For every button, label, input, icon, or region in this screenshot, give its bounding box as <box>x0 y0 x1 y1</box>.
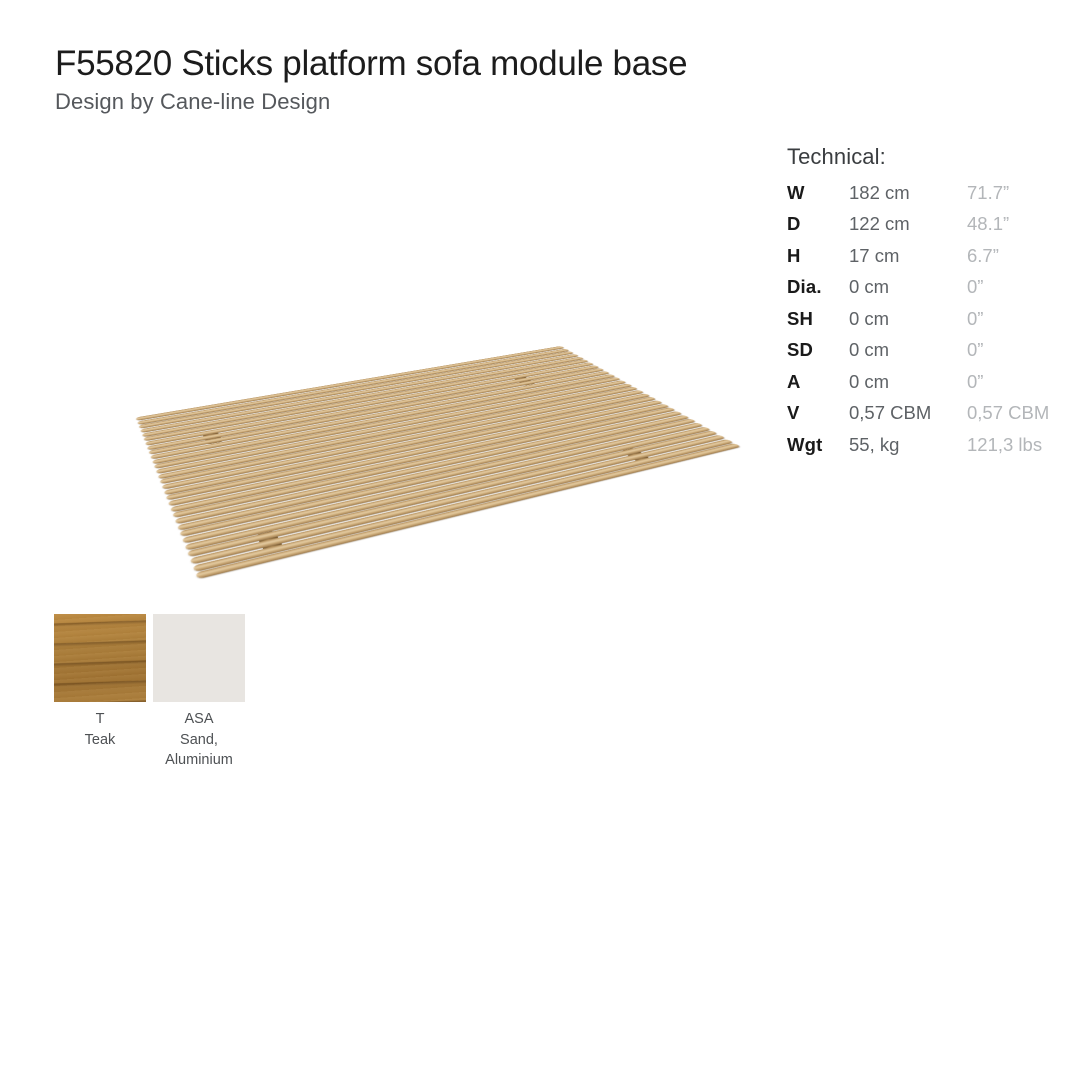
spec-label: D <box>787 209 849 241</box>
spec-imperial: 0” <box>967 366 1052 398</box>
swatch-chip[interactable] <box>54 614 146 702</box>
spec-metric: 0 cm <box>849 335 967 367</box>
spec-metric: 182 cm <box>849 177 967 209</box>
spec-metric: 122 cm <box>849 209 967 241</box>
page-title: F55820 Sticks platform sofa module base <box>55 44 955 83</box>
swatch-code: ASA <box>184 709 213 730</box>
spec-imperial: 0” <box>967 303 1052 335</box>
spec-label: A <box>787 366 849 398</box>
spec-imperial: 6.7” <box>967 240 1052 272</box>
table-row: A0 cm0” <box>787 366 1052 398</box>
table-row: D122 cm48.1” <box>787 209 1052 241</box>
platform-perspective-stage <box>130 250 730 500</box>
spec-imperial: 0” <box>967 272 1052 304</box>
swatch-name: Teak <box>85 730 116 751</box>
spec-metric: 55, kg <box>849 429 967 461</box>
swatch-item[interactable]: ASASand,Aluminium <box>153 614 245 771</box>
table-row: V0,57 CBM0,57 CBM <box>787 398 1052 430</box>
spec-imperial: 71.7” <box>967 177 1052 209</box>
spec-metric: 17 cm <box>849 240 967 272</box>
colour-swatch-list: TTeakASASand,Aluminium <box>54 614 245 771</box>
spec-imperial: 121,3 lbs <box>967 429 1052 461</box>
spec-label: V <box>787 398 849 430</box>
specifications-table: W182 cm71.7”D122 cm48.1”H17 cm6.7”Dia.0 … <box>787 177 1052 461</box>
spec-label: H <box>787 240 849 272</box>
technical-specifications: Technical: W182 cm71.7”D122 cm48.1”H17 c… <box>787 144 1067 461</box>
spec-metric: 0 cm <box>849 272 967 304</box>
table-row: H17 cm6.7” <box>787 240 1052 272</box>
product-header: F55820 Sticks platform sofa module base … <box>55 44 955 116</box>
spec-metric: 0 cm <box>849 303 967 335</box>
table-row: SD0 cm0” <box>787 335 1052 367</box>
product-image <box>130 250 730 500</box>
table-row: Wgt55, kg121,3 lbs <box>787 429 1052 461</box>
swatch-name: Sand,Aluminium <box>165 730 233 771</box>
technical-heading: Technical: <box>787 144 1067 170</box>
spec-metric: 0,57 CBM <box>849 398 967 430</box>
spec-label: W <box>787 177 849 209</box>
spec-label: SD <box>787 335 849 367</box>
spec-metric: 0 cm <box>849 366 967 398</box>
spec-imperial: 0” <box>967 335 1052 367</box>
swatch-item[interactable]: TTeak <box>54 614 146 771</box>
swatch-chip[interactable] <box>153 614 245 702</box>
table-row: W182 cm71.7” <box>787 177 1052 209</box>
slatted-platform <box>136 346 743 581</box>
designer-credit: Design by Cane-line Design <box>55 89 955 115</box>
table-row: SH0 cm0” <box>787 303 1052 335</box>
table-row: Dia.0 cm0” <box>787 272 1052 304</box>
spec-label: SH <box>787 303 849 335</box>
swatch-code: T <box>96 709 105 730</box>
spec-imperial: 48.1” <box>967 209 1052 241</box>
spec-label: Wgt <box>787 429 849 461</box>
spec-label: Dia. <box>787 272 849 304</box>
spec-imperial: 0,57 CBM <box>967 398 1052 430</box>
